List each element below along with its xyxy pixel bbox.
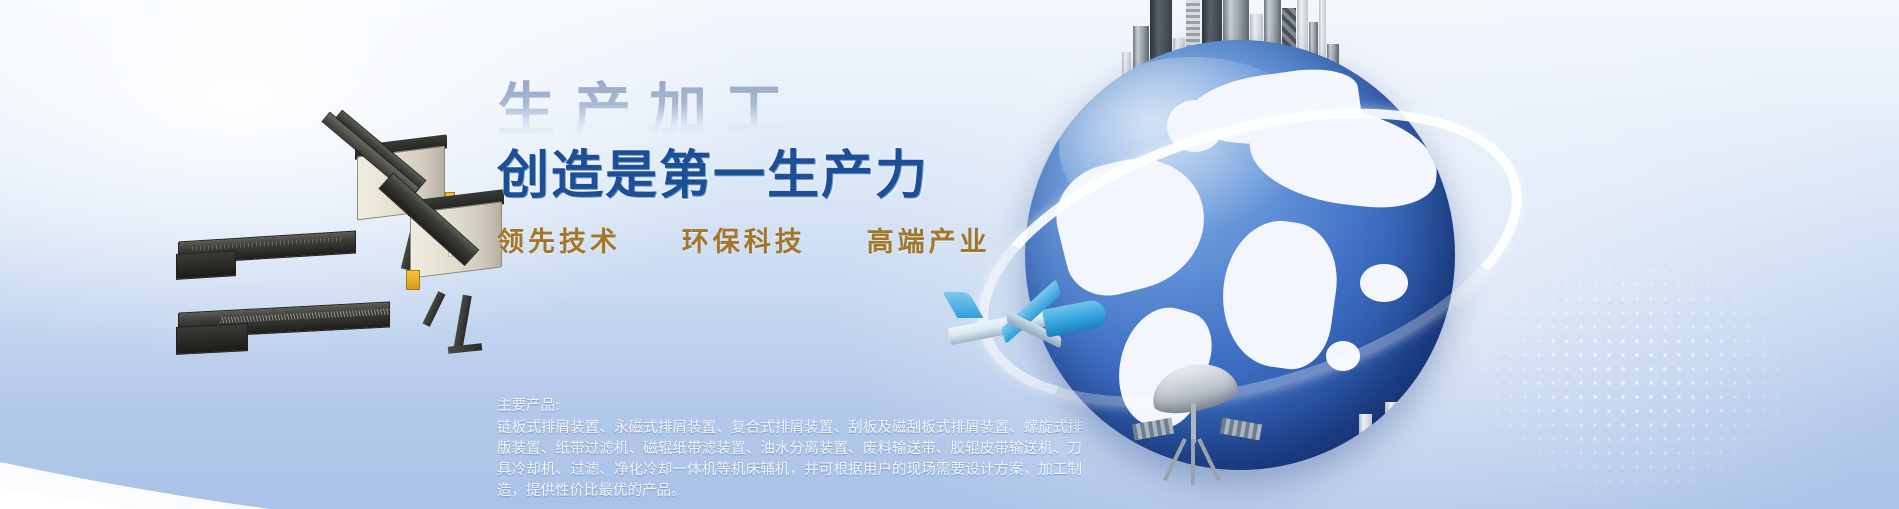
satellite-panel-right bbox=[1220, 418, 1262, 441]
globe-graphic bbox=[930, 0, 1630, 509]
cityscape-skyline-front bbox=[1325, 370, 1455, 470]
tagline-item-1: 领先技术 bbox=[497, 227, 621, 258]
promo-banner: 生产加工 创造是第一生产力 领先技术 环保科技 高端产业 主要产品: 链板式排屑… bbox=[0, 0, 1899, 509]
chip-conveyor-machine-lower bbox=[160, 195, 500, 385]
satellite-leg-2 bbox=[1197, 438, 1221, 481]
satellite-panel-left bbox=[1132, 418, 1174, 441]
satellite-leg-3 bbox=[1191, 439, 1195, 485]
tagline-item-2: 环保科技 bbox=[682, 227, 806, 258]
airplane-graphic bbox=[948, 280, 1108, 360]
satellite-mast bbox=[1191, 403, 1196, 443]
satellite-dish-graphic bbox=[1105, 365, 1285, 495]
satellite-leg-1 bbox=[1163, 438, 1187, 481]
airplane-tail bbox=[942, 292, 983, 318]
airplane-nose bbox=[1042, 298, 1108, 337]
